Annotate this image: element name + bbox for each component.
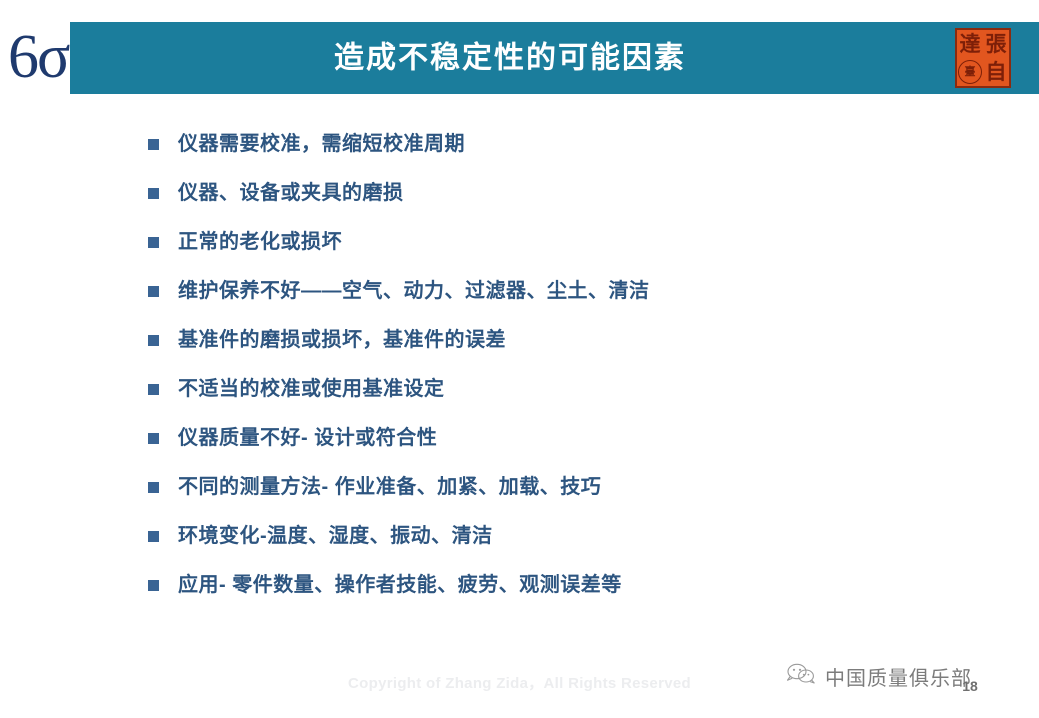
list-item: 维护保养不好——空气、动力、过滤器、尘土、清洁 [148, 277, 1008, 326]
list-item: 基准件的磨损或损坏，基准件的误差 [148, 326, 1008, 375]
list-item: 不同的测量方法- 作业准备、加紧、加载、技巧 [148, 473, 1008, 522]
six-sigma-logo: 6σ [8, 18, 84, 96]
slide-canvas: 造成不稳定性的可能因素 6σ 達 張 臺 自 仪器需要校准，需缩短校准周期 仪器… [0, 0, 1039, 718]
wechat-account-name: 中国质量俱乐部 [825, 662, 972, 691]
square-bullet-icon [148, 237, 159, 248]
square-bullet-icon [148, 580, 159, 591]
square-bullet-icon [148, 139, 159, 150]
page-number: 18 [955, 678, 985, 694]
list-item: 仪器、设备或夹具的磨损 [148, 179, 1008, 228]
author-seal-stamp: 達 張 臺 自 [955, 28, 1011, 88]
square-bullet-icon [148, 482, 159, 493]
list-item-label: 不适当的校准或使用基准设定 [178, 375, 445, 403]
square-bullet-icon [148, 384, 159, 395]
list-item: 仪器需要校准，需缩短校准周期 [148, 130, 1008, 179]
list-item-label: 应用- 零件数量、操作者技能、疲劳、观测误差等 [178, 571, 622, 599]
list-item: 正常的老化或损坏 [148, 228, 1008, 277]
seal-char-top-right: 張 [983, 30, 1009, 58]
square-bullet-icon [148, 335, 159, 346]
square-bullet-icon [148, 433, 159, 444]
list-item-label: 环境变化-温度、湿度、振动、清洁 [178, 522, 493, 550]
bullet-list: 仪器需要校准，需缩短校准周期 仪器、设备或夹具的磨损 正常的老化或损坏 维护保养… [148, 130, 1008, 620]
list-item: 应用- 零件数量、操作者技能、疲劳、观测误差等 [148, 571, 1008, 620]
list-item-label: 仪器需要校准，需缩短校准周期 [178, 130, 465, 158]
header-banner: 造成不稳定性的可能因素 [70, 22, 1039, 94]
list-item-label: 正常的老化或损坏 [178, 228, 342, 256]
list-item: 仪器质量不好- 设计或符合性 [148, 424, 1008, 473]
list-item-label: 仪器质量不好- 设计或符合性 [178, 424, 437, 452]
list-item: 不适当的校准或使用基准设定 [148, 375, 1008, 424]
square-bullet-icon [148, 286, 159, 297]
wechat-icon [786, 662, 816, 691]
list-item-label: 基准件的磨损或损坏，基准件的误差 [178, 326, 506, 354]
page-title: 造成不稳定性的可能因素 [70, 42, 950, 75]
list-item-label: 不同的测量方法- 作业准备、加紧、加载、技巧 [178, 473, 601, 501]
seal-char-bottom-right: 自 [983, 58, 1009, 86]
wechat-watermark: 中国质量俱乐部 [786, 662, 972, 691]
seal-circle-mark: 臺 [957, 58, 983, 86]
list-item-label: 维护保养不好——空气、动力、过滤器、尘土、清洁 [178, 277, 650, 305]
list-item: 环境变化-温度、湿度、振动、清洁 [148, 522, 1008, 571]
list-item-label: 仪器、设备或夹具的磨损 [178, 179, 404, 207]
square-bullet-icon [148, 188, 159, 199]
seal-char-top-left: 達 [957, 30, 983, 58]
square-bullet-icon [148, 531, 159, 542]
